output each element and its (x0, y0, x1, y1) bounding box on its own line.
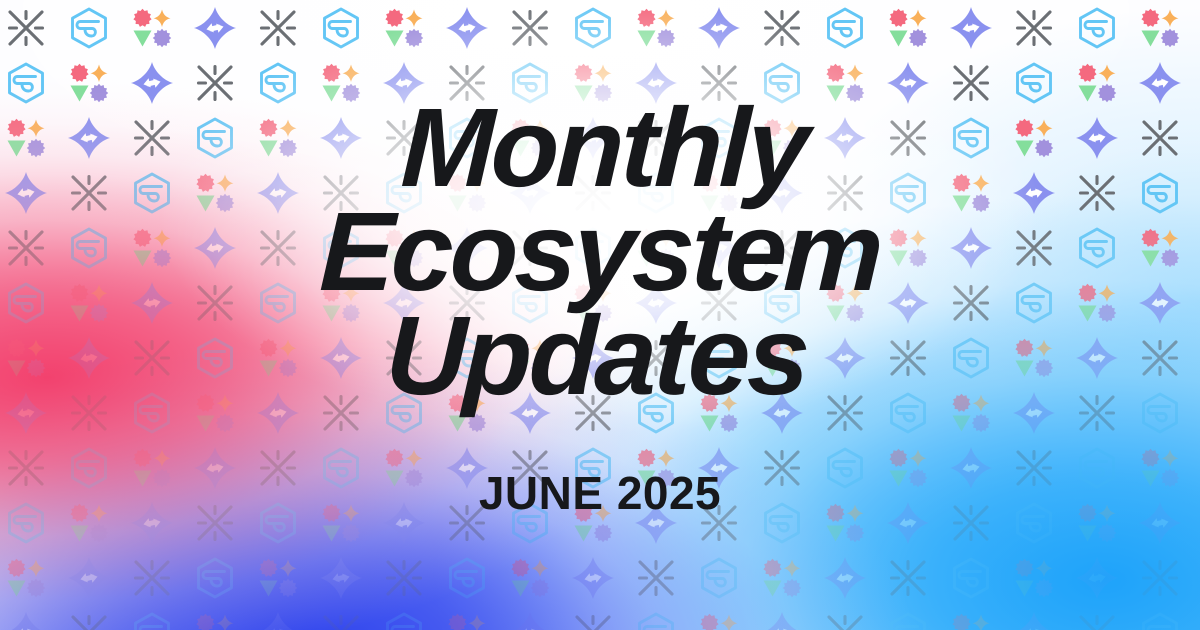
asterisk-burst-icon (129, 555, 175, 601)
asterisk-burst-icon (255, 5, 301, 51)
shape-cluster-icon (444, 610, 490, 630)
diamond-swap-icon (759, 610, 805, 630)
diamond-swap-icon (570, 555, 616, 601)
asterisk-burst-icon (1137, 555, 1183, 601)
diamond-swap-icon (1011, 610, 1057, 630)
headline-line-1: Monthly (2, 96, 1200, 200)
asterisk-burst-icon (318, 610, 364, 630)
hexagon-swirl-icon (822, 5, 868, 51)
diamond-swap-icon (66, 555, 112, 601)
shape-cluster-icon (3, 555, 49, 601)
subtitle-date: JUNE 2025 (0, 466, 1200, 520)
hexagon-swirl-icon (381, 610, 427, 630)
shape-cluster-icon (948, 610, 994, 630)
diamond-swap-icon (255, 610, 301, 630)
hexagon-swirl-icon (633, 610, 679, 630)
hexagon-swirl-icon (1074, 5, 1120, 51)
ecosystem-updates-banner: Monthly Ecosystem Updates JUNE 2025 (0, 0, 1200, 630)
hexagon-swirl-icon (1137, 610, 1183, 630)
hexagon-swirl-icon (948, 555, 994, 601)
shape-cluster-icon (381, 5, 427, 51)
diamond-swap-icon (507, 610, 553, 630)
hexagon-swirl-icon (129, 610, 175, 630)
hexagon-swirl-icon (696, 555, 742, 601)
shape-cluster-icon (885, 5, 931, 51)
diamond-swap-icon (696, 5, 742, 51)
diamond-swap-icon (822, 555, 868, 601)
shape-cluster-icon (507, 555, 553, 601)
asterisk-burst-icon (633, 555, 679, 601)
title-block: Monthly Ecosystem Updates (0, 96, 1200, 408)
asterisk-burst-icon (759, 5, 805, 51)
diamond-swap-icon (318, 555, 364, 601)
shape-cluster-icon (633, 5, 679, 51)
hexagon-swirl-icon (444, 555, 490, 601)
page-title: Monthly Ecosystem Updates (0, 96, 1200, 408)
shape-cluster-icon (1137, 5, 1183, 51)
diamond-swap-icon (192, 5, 238, 51)
diamond-swap-icon (1074, 555, 1120, 601)
asterisk-burst-icon (1074, 610, 1120, 630)
asterisk-burst-icon (66, 610, 112, 630)
shape-cluster-icon (192, 610, 238, 630)
diamond-swap-icon (444, 5, 490, 51)
shape-cluster-icon (696, 610, 742, 630)
hexagon-swirl-icon (192, 555, 238, 601)
hexagon-swirl-icon (66, 5, 112, 51)
asterisk-burst-icon (3, 5, 49, 51)
shape-cluster-icon (1011, 555, 1057, 601)
shape-cluster-icon (129, 5, 175, 51)
hexagon-swirl-icon (318, 5, 364, 51)
shape-cluster-icon (759, 555, 805, 601)
asterisk-burst-icon (570, 610, 616, 630)
headline-line-3: Updates (0, 304, 1198, 408)
headline-line-2: Ecosystem (0, 200, 1200, 304)
asterisk-burst-icon (381, 555, 427, 601)
asterisk-burst-icon (822, 610, 868, 630)
asterisk-burst-icon (1011, 5, 1057, 51)
hexagon-swirl-icon (570, 5, 616, 51)
diamond-swap-icon (948, 5, 994, 51)
asterisk-burst-icon (507, 5, 553, 51)
asterisk-burst-icon (885, 555, 931, 601)
hexagon-swirl-icon (885, 610, 931, 630)
shape-cluster-icon (255, 555, 301, 601)
diamond-swap-icon (3, 610, 49, 630)
